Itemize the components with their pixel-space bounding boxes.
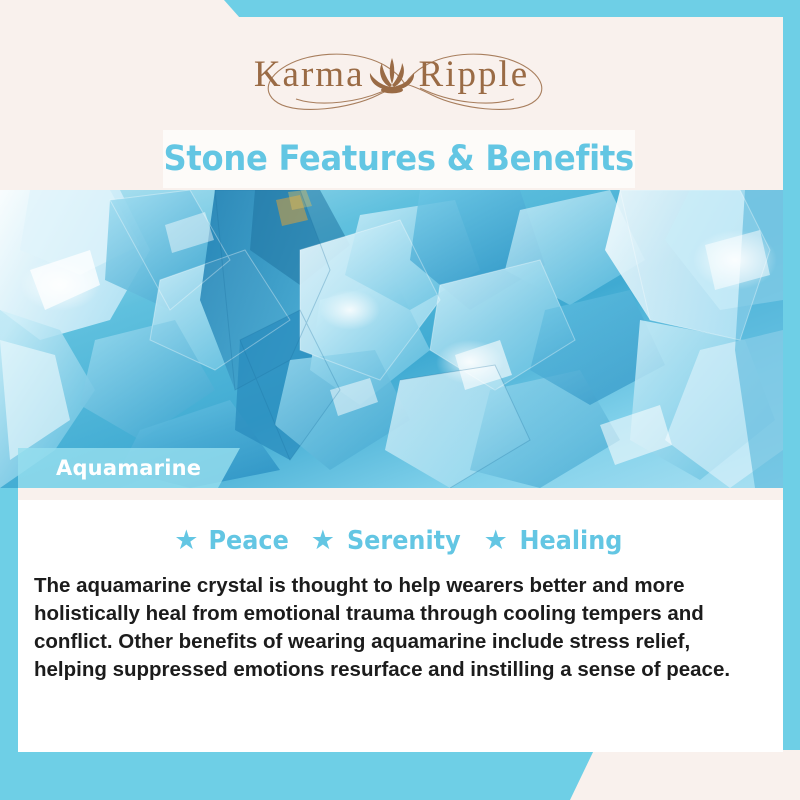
aquamarine-crystal-image bbox=[0, 190, 783, 488]
star-icon: ★ bbox=[484, 527, 508, 554]
keyword-label-serenity: Serenity bbox=[347, 526, 461, 556]
stone-name-label: Aquamarine bbox=[56, 456, 201, 480]
brand-word-right: Ripple bbox=[419, 53, 530, 96]
keyword-item-healing: ★ Healing bbox=[484, 526, 627, 556]
stone-name-tag: Aquamarine bbox=[18, 448, 240, 488]
content-card: ★ Peace ★ Serenity ★ Healing The aquamar… bbox=[18, 500, 783, 752]
title-banner: Stone Features & Benefits bbox=[163, 130, 635, 188]
keyword-item-serenity: ★ Serenity bbox=[311, 526, 466, 556]
lotus-icon bbox=[369, 54, 415, 94]
top-left-corner-wedge bbox=[0, 0, 240, 18]
keyword-list: ★ Peace ★ Serenity ★ Healing bbox=[28, 526, 773, 556]
star-icon: ★ bbox=[174, 527, 198, 554]
keyword-label-peace: Peace bbox=[209, 526, 289, 556]
keyword-item-peace: ★ Peace bbox=[174, 526, 293, 556]
stone-description: The aquamarine crystal is thought to hel… bbox=[28, 572, 773, 684]
page-frame: Karma Ripple Stone Features & Benefits bbox=[0, 0, 800, 800]
stone-photo: Aquamarine bbox=[0, 190, 783, 488]
brand-logo: Karma Ripple bbox=[0, 40, 783, 108]
page-title: Stone Features & Benefits bbox=[164, 139, 634, 179]
star-icon: ★ bbox=[311, 527, 335, 554]
brand-word-left: Karma bbox=[254, 53, 365, 96]
bottom-right-corner-wedge bbox=[570, 750, 800, 800]
keyword-label-healing: Healing bbox=[519, 526, 622, 556]
